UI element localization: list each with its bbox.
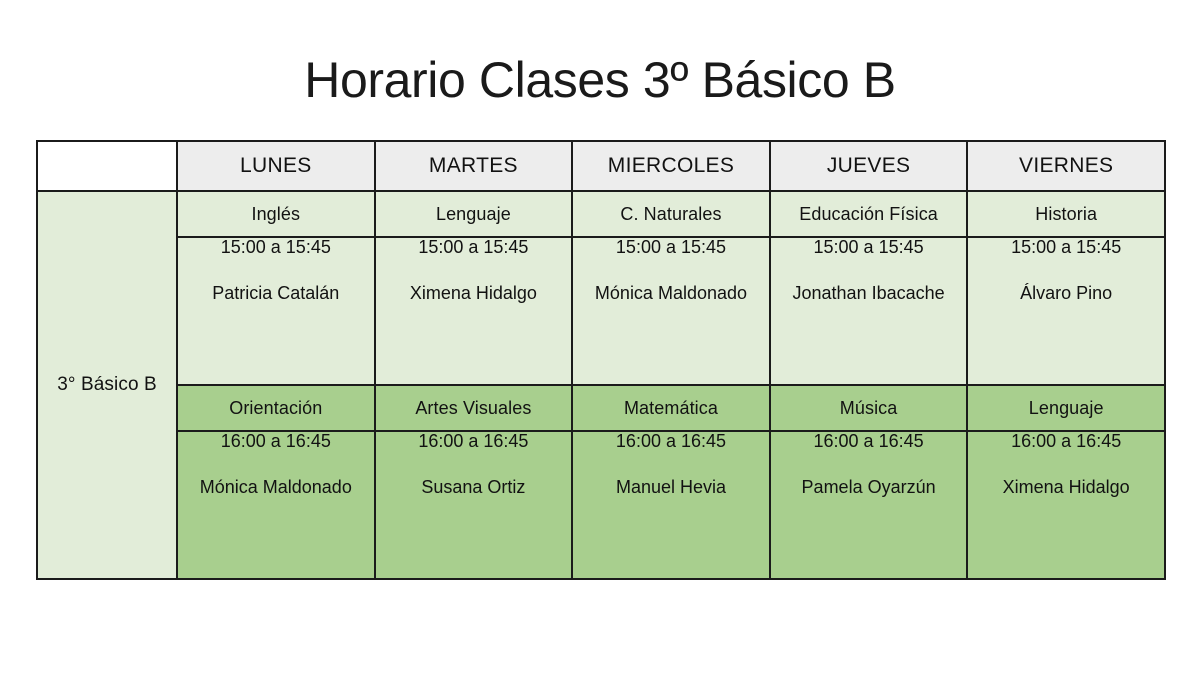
day-header-jueves: JUEVES (770, 141, 968, 191)
schedule-table-container: LUNES MARTES MIERCOLES JUEVES VIERNES 3°… (36, 140, 1164, 580)
teacher-block2-viernes: Ximena Hidalgo (968, 478, 1164, 496)
subject-block2-viernes: Lenguaje (967, 385, 1165, 431)
detail-block2-miercoles: 16:00 a 16:45 Manuel Hevia (572, 431, 770, 579)
corner-header-cell (37, 141, 177, 191)
schedule-table: LUNES MARTES MIERCOLES JUEVES VIERNES 3°… (36, 140, 1166, 580)
subject-block2-martes: Artes Visuales (375, 385, 573, 431)
subject-block1-martes: Lenguaje (375, 191, 573, 237)
page-title: Horario Clases 3º Básico B (0, 52, 1200, 110)
time-block2-lunes: 16:00 a 16:45 (178, 432, 374, 450)
slide: Horario Clases 3º Básico B LUNES MARTES … (0, 0, 1200, 675)
detail-block1-martes: 15:00 a 15:45 Ximena Hidalgo (375, 237, 573, 385)
detail-block1-lunes: 15:00 a 15:45 Patricia Catalán (177, 237, 375, 385)
subject-block1-viernes: Historia (967, 191, 1165, 237)
time-block1-lunes: 15:00 a 15:45 (178, 238, 374, 256)
time-block2-miercoles: 16:00 a 16:45 (573, 432, 769, 450)
time-block1-martes: 15:00 a 15:45 (376, 238, 572, 256)
subject-block1-miercoles: C. Naturales (572, 191, 770, 237)
teacher-block2-martes: Susana Ortiz (376, 478, 572, 496)
subject-block2-jueves: Música (770, 385, 968, 431)
day-header-martes: MARTES (375, 141, 573, 191)
day-header-lunes: LUNES (177, 141, 375, 191)
time-block1-viernes: 15:00 a 15:45 (968, 238, 1164, 256)
row-label-cell: 3° Básico B (37, 191, 177, 579)
table-header: LUNES MARTES MIERCOLES JUEVES VIERNES (37, 141, 1165, 191)
teacher-block1-jueves: Jonathan Ibacache (771, 284, 967, 302)
table-body: 3° Básico B Inglés Lenguaje C. Naturales… (37, 191, 1165, 579)
detail-block2-jueves: 16:00 a 16:45 Pamela Oyarzún (770, 431, 968, 579)
header-row: LUNES MARTES MIERCOLES JUEVES VIERNES (37, 141, 1165, 191)
teacher-block2-miercoles: Manuel Hevia (573, 478, 769, 496)
day-header-viernes: VIERNES (967, 141, 1165, 191)
time-block2-jueves: 16:00 a 16:45 (771, 432, 967, 450)
time-block2-viernes: 16:00 a 16:45 (968, 432, 1164, 450)
detail-row-block2: 16:00 a 16:45 Mónica Maldonado 16:00 a 1… (37, 431, 1165, 579)
time-block2-martes: 16:00 a 16:45 (376, 432, 572, 450)
detail-row-block1: 15:00 a 15:45 Patricia Catalán 15:00 a 1… (37, 237, 1165, 385)
detail-block2-lunes: 16:00 a 16:45 Mónica Maldonado (177, 431, 375, 579)
detail-block1-jueves: 15:00 a 15:45 Jonathan Ibacache (770, 237, 968, 385)
subject-row-block1: 3° Básico B Inglés Lenguaje C. Naturales… (37, 191, 1165, 237)
time-block1-jueves: 15:00 a 15:45 (771, 238, 967, 256)
detail-block1-viernes: 15:00 a 15:45 Álvaro Pino (967, 237, 1165, 385)
detail-block2-viernes: 16:00 a 16:45 Ximena Hidalgo (967, 431, 1165, 579)
detail-block1-miercoles: 15:00 a 15:45 Mónica Maldonado (572, 237, 770, 385)
time-block1-miercoles: 15:00 a 15:45 (573, 238, 769, 256)
teacher-block1-lunes: Patricia Catalán (178, 284, 374, 302)
teacher-block2-lunes: Mónica Maldonado (178, 478, 374, 496)
teacher-block1-viernes: Álvaro Pino (968, 284, 1164, 302)
subject-block2-lunes: Orientación (177, 385, 375, 431)
day-header-miercoles: MIERCOLES (572, 141, 770, 191)
teacher-block1-miercoles: Mónica Maldonado (573, 284, 769, 302)
subject-block1-lunes: Inglés (177, 191, 375, 237)
teacher-block1-martes: Ximena Hidalgo (376, 284, 572, 302)
detail-block2-martes: 16:00 a 16:45 Susana Ortiz (375, 431, 573, 579)
subject-block2-miercoles: Matemática (572, 385, 770, 431)
subject-row-block2: Orientación Artes Visuales Matemática Mú… (37, 385, 1165, 431)
teacher-block2-jueves: Pamela Oyarzún (771, 478, 967, 496)
subject-block1-jueves: Educación Física (770, 191, 968, 237)
